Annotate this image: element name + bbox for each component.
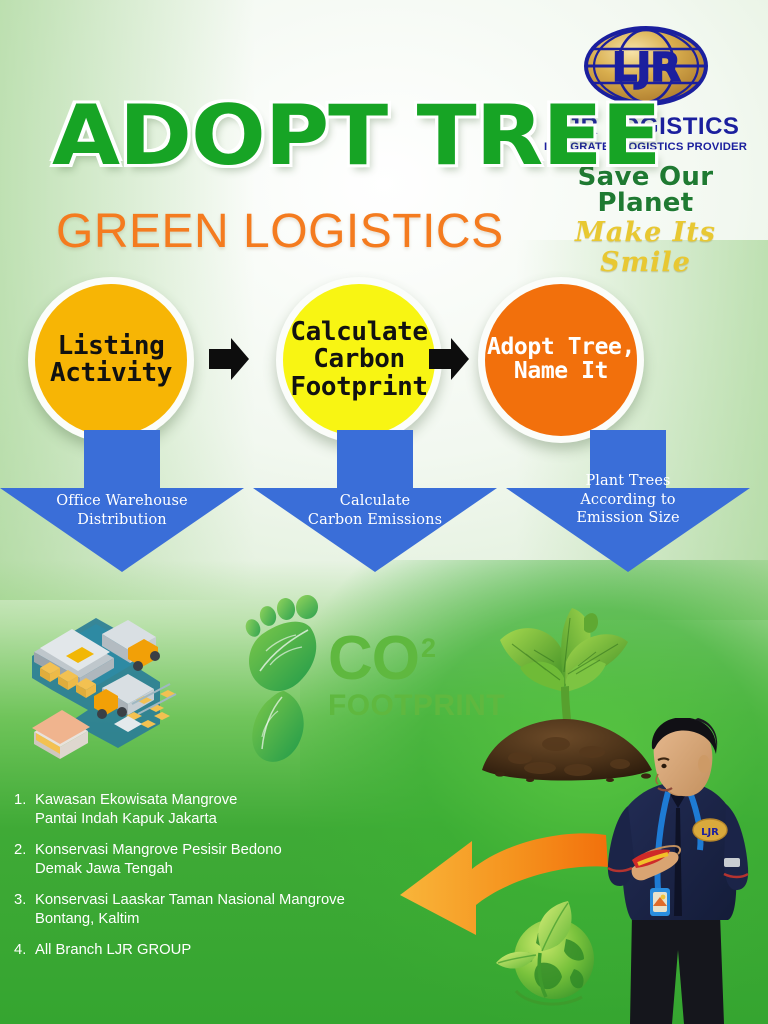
poster-subheadline: GREEN LOGISTICS bbox=[56, 208, 504, 256]
list-item-text: Konservasi Mangrove Pesisir Bedono Demak… bbox=[35, 841, 434, 879]
right-arrow-icon bbox=[427, 336, 471, 382]
process-caption-2: Calculate Carbon Emissions bbox=[253, 492, 497, 529]
leaf-footprint-icon bbox=[240, 595, 340, 770]
list-item: 2. Konservasi Mangrove Pesisir Bedono De… bbox=[14, 841, 434, 879]
staff-person-photo: LJR bbox=[598, 718, 758, 1024]
process-caption-1: Office Warehouse Distribution bbox=[0, 492, 244, 529]
green-globe-leaf-icon bbox=[480, 893, 605, 1013]
list-item-text: Konservasi Laaskar Taman Nasional Mangro… bbox=[35, 891, 434, 929]
list-item-number: 1. bbox=[14, 791, 35, 829]
list-item: 4. All Branch LJR GROUP bbox=[14, 941, 434, 960]
list-item-number: 4. bbox=[14, 941, 35, 960]
process-step-listing-activity[interactable]: Listing Activity bbox=[28, 277, 194, 443]
svg-text:LJR: LJR bbox=[611, 45, 679, 91]
process-step-1-label: Listing Activity bbox=[50, 333, 172, 387]
list-item: 1. Kawasan Ekowisata Mangrove Pantai Ind… bbox=[14, 791, 434, 829]
list-item-text: Kawasan Ekowisata Mangrove Pantai Indah … bbox=[35, 791, 434, 829]
co2-superscript: 2 bbox=[421, 636, 435, 660]
process-step-2-label: Calculate Carbon Footprint bbox=[290, 319, 427, 400]
process-step-adopt-tree-name-it[interactable]: Adopt Tree, Name It bbox=[478, 277, 644, 443]
list-item-number: 2. bbox=[14, 841, 35, 879]
list-item-number: 3. bbox=[14, 891, 35, 929]
list-item: 3. Konservasi Laaskar Taman Nasional Man… bbox=[14, 891, 434, 929]
process-step-calculate-carbon-footprint[interactable]: Calculate Carbon Footprint bbox=[276, 277, 442, 443]
right-arrow-icon bbox=[207, 336, 251, 382]
brand-script-slogan: Make Its Smile bbox=[543, 218, 748, 277]
list-item-text: All Branch LJR GROUP bbox=[35, 941, 434, 960]
process-step-3-label: Adopt Tree, Name It bbox=[487, 336, 635, 384]
process-caption-3: Plant Trees According to Emission Size bbox=[506, 472, 750, 528]
logistics-warehouse-illustration bbox=[10, 596, 220, 786]
poster-canvas: LJR LJR LOGISTICS INTEGRATED LOGISTICS P… bbox=[0, 0, 768, 1024]
uniform-logo-text: LJR bbox=[701, 827, 719, 838]
adoption-locations-list: 1. Kawasan Ekowisata Mangrove Pantai Ind… bbox=[14, 791, 434, 972]
co2-footprint-graphic: CO2 FOOTPRINT bbox=[240, 595, 455, 775]
poster-headline: ADOPT TREE bbox=[52, 97, 660, 176]
